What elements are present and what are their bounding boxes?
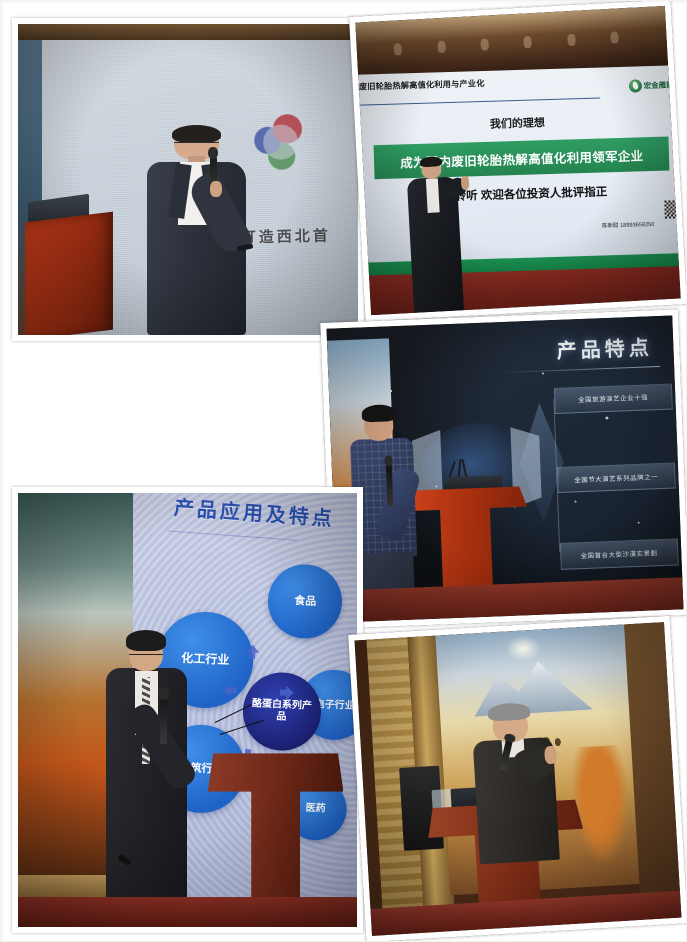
scene-mid-right: 产品特点 全国旅游演艺企业十强 全国节大演艺系列品牌之一 全国首台大型沙漠实景剧 — [326, 315, 683, 622]
photo-product-features-slide[interactable]: 产品特点 全国旅游演艺企业十强 全国节大演艺系列品牌之一 全国首台大型沙漠实景剧 — [320, 309, 687, 629]
screen-slogan-primary: 打造西北首 — [241, 224, 331, 247]
speaker-hair — [361, 404, 396, 422]
speaker-figure — [400, 158, 470, 313]
slide-headline: 我们的理想 — [355, 110, 680, 136]
slide-title: 产品特点 — [556, 331, 653, 364]
speaker-hair — [420, 156, 443, 168]
slide-contact-text: 陈新聪 18993658250 — [601, 219, 654, 229]
scene-top-left: 打造西北首 张掖市 — [18, 24, 358, 335]
autumn-tree — [569, 744, 634, 867]
speaker-figure — [140, 127, 252, 335]
stage-floor — [18, 897, 357, 927]
photo-product-application-slide[interactable]: 产品应用及特点 化工行业 食品 电子行业 建筑行业 医药 酪蛋白系列产品 — [12, 487, 363, 933]
slide-header-rule — [359, 97, 600, 105]
photo-green-vision-slide[interactable]: 废旧轮胎热解高值化利用与产业化 宏金雁能 我们的理想 成为国内废旧轮胎热解高值化… — [349, 0, 687, 321]
microphone-icon — [160, 697, 167, 744]
scene-top-right: 废旧轮胎热解高值化利用与产业化 宏金雁能 我们的理想 成为国内废旧轮胎热解高值化… — [355, 6, 680, 315]
podium — [25, 211, 113, 335]
ceiling-strip — [18, 24, 358, 40]
speaker-hand — [210, 181, 222, 198]
microphone-stand — [215, 710, 303, 771]
slide-header-text: 废旧轮胎热解高值化利用与产业化 — [358, 76, 484, 92]
company-logo-text: 宏金雁能 — [643, 81, 673, 89]
photo-speaker-blue-screen[interactable]: 打造西北首 张掖市 — [12, 18, 364, 341]
scene-bottom-left: 产品应用及特点 化工行业 食品 电子行业 建筑行业 医药 酪蛋白系列产品 — [18, 493, 357, 927]
leaf-logo-icon — [628, 79, 641, 92]
speaker-hair — [172, 125, 221, 144]
speaker-hair — [126, 630, 167, 650]
speaker-figure — [106, 636, 187, 927]
feature-bullet-3: 全国首台大型沙漠实景剧 — [560, 539, 679, 570]
feature-bullet-1: 全国旅游演艺企业十强 — [554, 383, 673, 414]
glasses-icon — [129, 654, 163, 661]
speaker-shirt — [426, 179, 440, 213]
scene-bottom-right — [354, 622, 681, 936]
speaker-hand — [460, 176, 469, 190]
sun-glow-icon — [504, 635, 541, 663]
photo-speaker-desert-mural[interactable] — [348, 616, 687, 942]
feature-bullet-2: 全国节大演艺系列品牌之一 — [557, 462, 676, 493]
speaker-figure — [470, 706, 560, 864]
company-logo: 宏金雁能 — [628, 78, 673, 92]
qr-code-icon — [664, 200, 681, 219]
photo-collage: 打造西北首 张掖市 — [0, 0, 687, 942]
